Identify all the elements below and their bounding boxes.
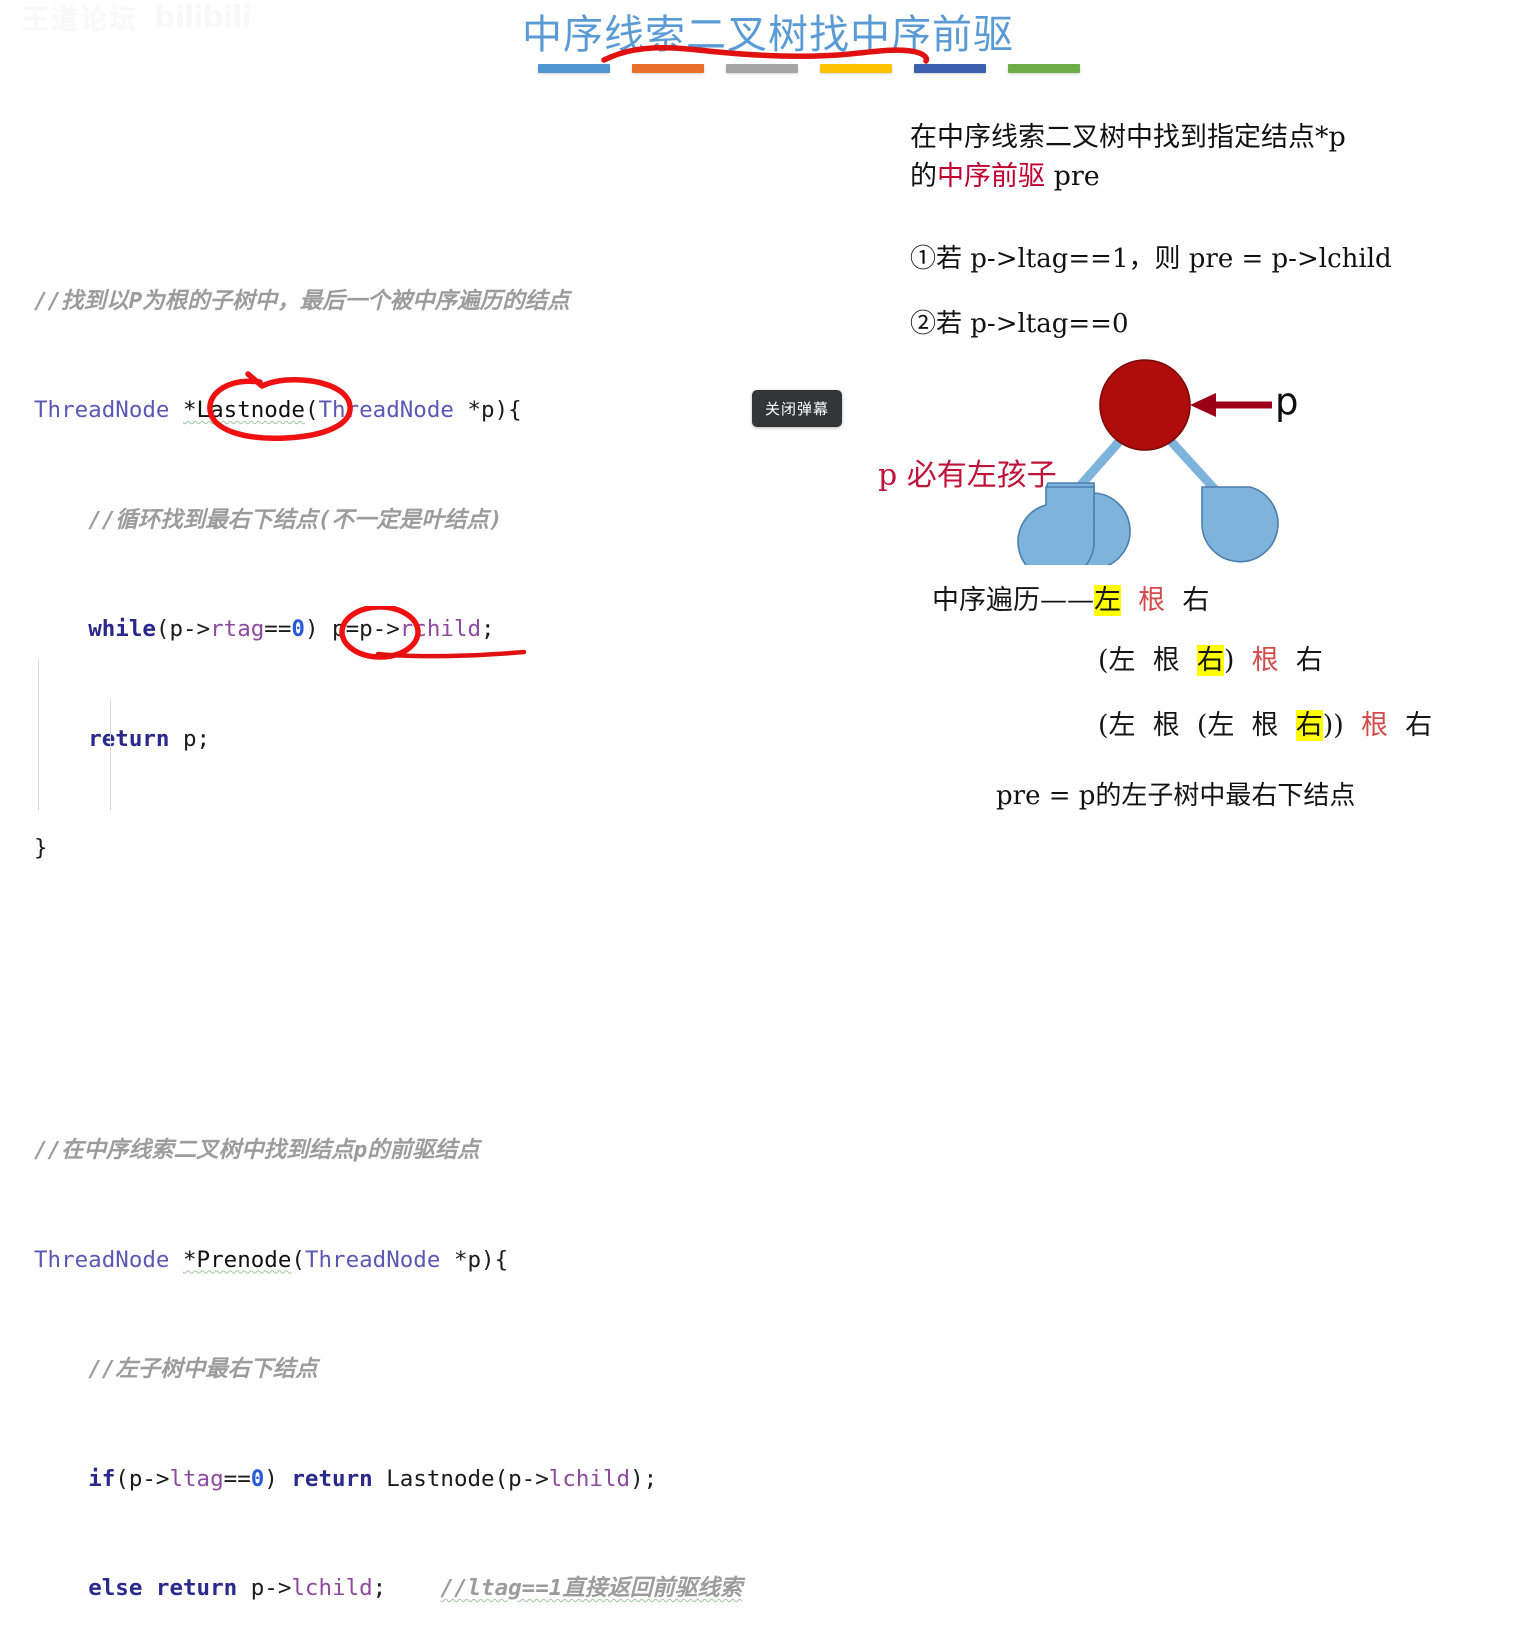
token-root: 根 <box>1361 710 1388 741</box>
code-line: //左子树中最右下结点 <box>34 1351 924 1388</box>
condition-2: ②若 p->ltag==0 <box>910 303 1520 340</box>
pointer-label-p: p <box>1275 380 1299 423</box>
close-danmaku-button[interactable]: 关闭弹幕 <box>752 390 842 427</box>
code-line: else return p->lchild; //ltag==1直接返回前驱线索 <box>34 1570 924 1607</box>
token-right: 右 <box>1405 710 1432 741</box>
code-line: //在中序线索二叉树中找到结点p的前驱结点 <box>34 1132 924 1169</box>
title-underline-annotation <box>600 34 940 68</box>
tree-root-node-p <box>1100 360 1190 450</box>
slide-canvas: 王道论坛 bilibili 中序线索二叉树找中序前驱 //找到以P为根的子树中，… <box>0 0 1536 814</box>
code-line: return p; <box>34 721 924 758</box>
token-root: 根 <box>1252 645 1279 676</box>
explanation-panel: 在中序线索二叉树中找到指定结点*p 的中序前驱 pre ①若 p->ltag==… <box>910 118 1520 340</box>
token-right-highlight: 右 <box>1296 710 1323 741</box>
inorder-predecessor-highlight: 中序前驱 <box>937 161 1045 192</box>
bar-green <box>1008 64 1080 73</box>
explanation-heading-line2: 的中序前驱 pre <box>910 157 1520 196</box>
title-color-bars <box>538 64 1080 73</box>
code-line: } <box>34 830 924 867</box>
code-block-prenode: //在中序线索二叉树中找到结点p的前驱结点 ThreadNode *Prenod… <box>34 1059 924 1628</box>
token-right: 右 <box>1296 645 1323 676</box>
condition-1: ①若 p->ltag==1，则 pre = p->lchild <box>910 238 1520 275</box>
indent-guide <box>110 700 111 810</box>
traversal-line-3: (左 根 (左 根 右)) 根 右 <box>1098 703 1432 742</box>
bar-blue-light <box>538 64 610 73</box>
bar-orange <box>632 64 704 73</box>
indent-guide <box>38 660 39 810</box>
token-left-highlight: 左 <box>1094 585 1121 616</box>
bar-blue-dark <box>914 64 986 73</box>
token-right: 右 <box>1182 585 1209 616</box>
traversal-line-1: 中序遍历——左 根 右 <box>932 578 1209 617</box>
traversal-line-2: (左 根 右) 根 右 <box>1098 638 1323 677</box>
code-block-lastnode: //找到以P为根的子树中，最后一个被中序遍历的结点 ThreadNode *La… <box>34 210 924 940</box>
tree-left-subtree-shape <box>1018 487 1094 565</box>
code-line: while(p->rtag==0) p=p->rchild; <box>34 611 924 648</box>
tree-note-left-child: p 必有左孩子 <box>878 450 1057 494</box>
bar-yellow <box>820 64 892 73</box>
code-line: if(p->ltag==0) return Lastnode(p->lchild… <box>34 1461 924 1498</box>
pointer-arrow-p <box>1190 393 1272 417</box>
code-line: //找到以P为根的子树中，最后一个被中序遍历的结点 <box>34 283 924 320</box>
tree-right-subtree-shape <box>1202 487 1278 562</box>
token-root: 根 <box>1138 585 1165 616</box>
code-line: //循环找到最右下结点(不一定是叶结点) <box>34 502 924 539</box>
code-line: ThreadNode *Prenode(ThreadNode *p){ <box>34 1242 924 1279</box>
explanation-heading-line1: 在中序线索二叉树中找到指定结点*p <box>910 118 1520 157</box>
traversal-conclusion: pre = p的左子树中最右下结点 <box>996 775 1355 812</box>
bar-gray <box>726 64 798 73</box>
token-right-highlight: 右 <box>1197 645 1224 676</box>
code-panel: //找到以P为根的子树中，最后一个被中序遍历的结点 ThreadNode *La… <box>34 100 924 1628</box>
